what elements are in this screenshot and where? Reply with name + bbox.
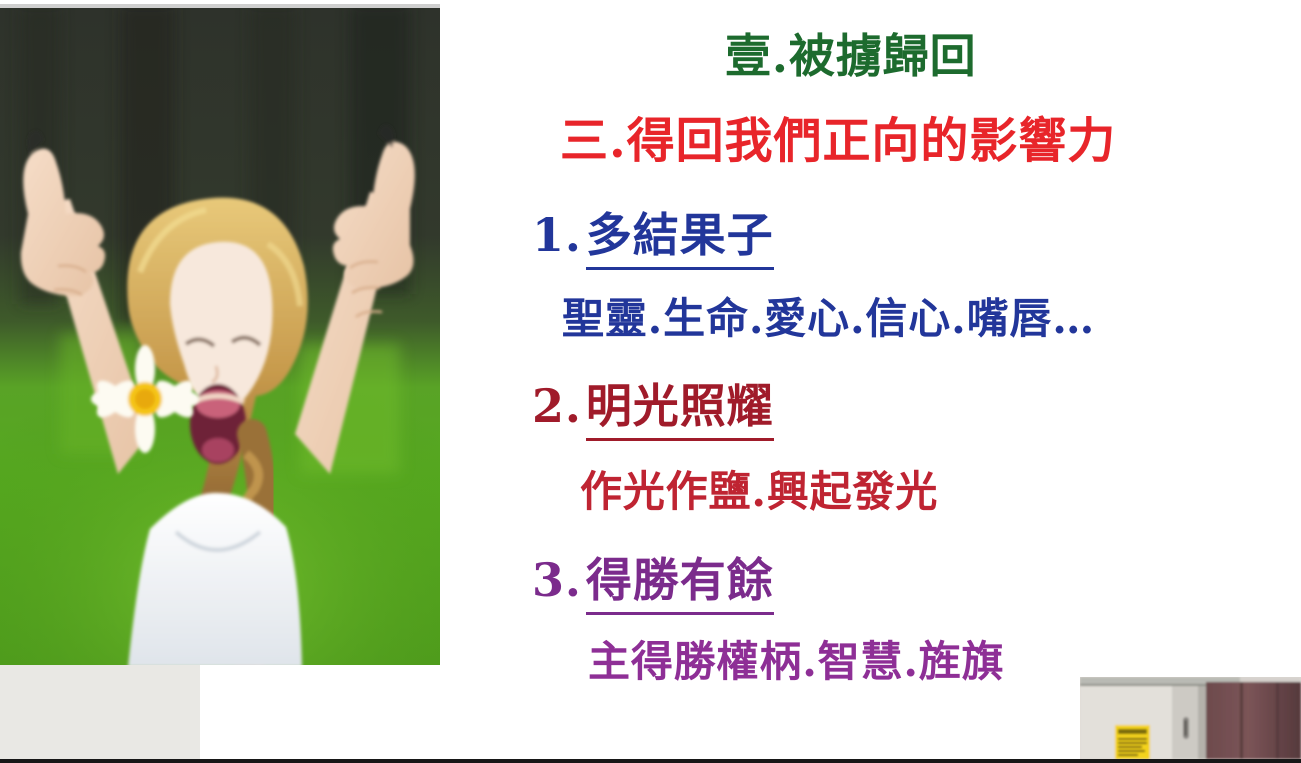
point-2-detail: 作光作鹽.興起發光 bbox=[580, 458, 938, 519]
webcam-room-feed[interactable] bbox=[1080, 677, 1301, 759]
slide-subtitle: 三.得回我們正向的影響力 bbox=[560, 101, 1116, 171]
photo-top-strip bbox=[0, 4, 440, 8]
point-1-number: 1. bbox=[532, 208, 586, 262]
slide-title: 壹.被擄歸回 bbox=[725, 20, 977, 86]
slide-canvas: 壹.被擄歸回 三.得回我們正向的影響力 1.多結果子 聖靈.生命.愛心.信心.嘴… bbox=[0, 0, 1301, 763]
point-3-heading: 3.得勝有餘 bbox=[532, 544, 774, 615]
point-2-number: 2. bbox=[532, 379, 586, 433]
child-thumbs-up-photo bbox=[0, 4, 440, 665]
point-1-heading: 1.多結果子 bbox=[532, 199, 774, 270]
point-2-heading: 2.明光照耀 bbox=[532, 370, 774, 441]
point-3-detail: 主得勝權柄.智慧.旌旗 bbox=[588, 628, 1005, 689]
point-1-text: 多結果子 bbox=[586, 199, 774, 270]
slide-text-column: 壹.被擄歸回 三.得回我們正向的影響力 1.多結果子 聖靈.生命.愛心.信心.嘴… bbox=[440, 0, 1301, 763]
point-1-detail: 聖靈.生命.愛心.信心.嘴唇… bbox=[562, 285, 1095, 346]
lower-left-grey-panel bbox=[0, 665, 200, 759]
point-3-text: 得勝有餘 bbox=[586, 544, 774, 615]
point-2-text: 明光照耀 bbox=[586, 370, 774, 441]
bottom-divider bbox=[0, 759, 1301, 763]
point-3-number: 3. bbox=[532, 553, 586, 607]
